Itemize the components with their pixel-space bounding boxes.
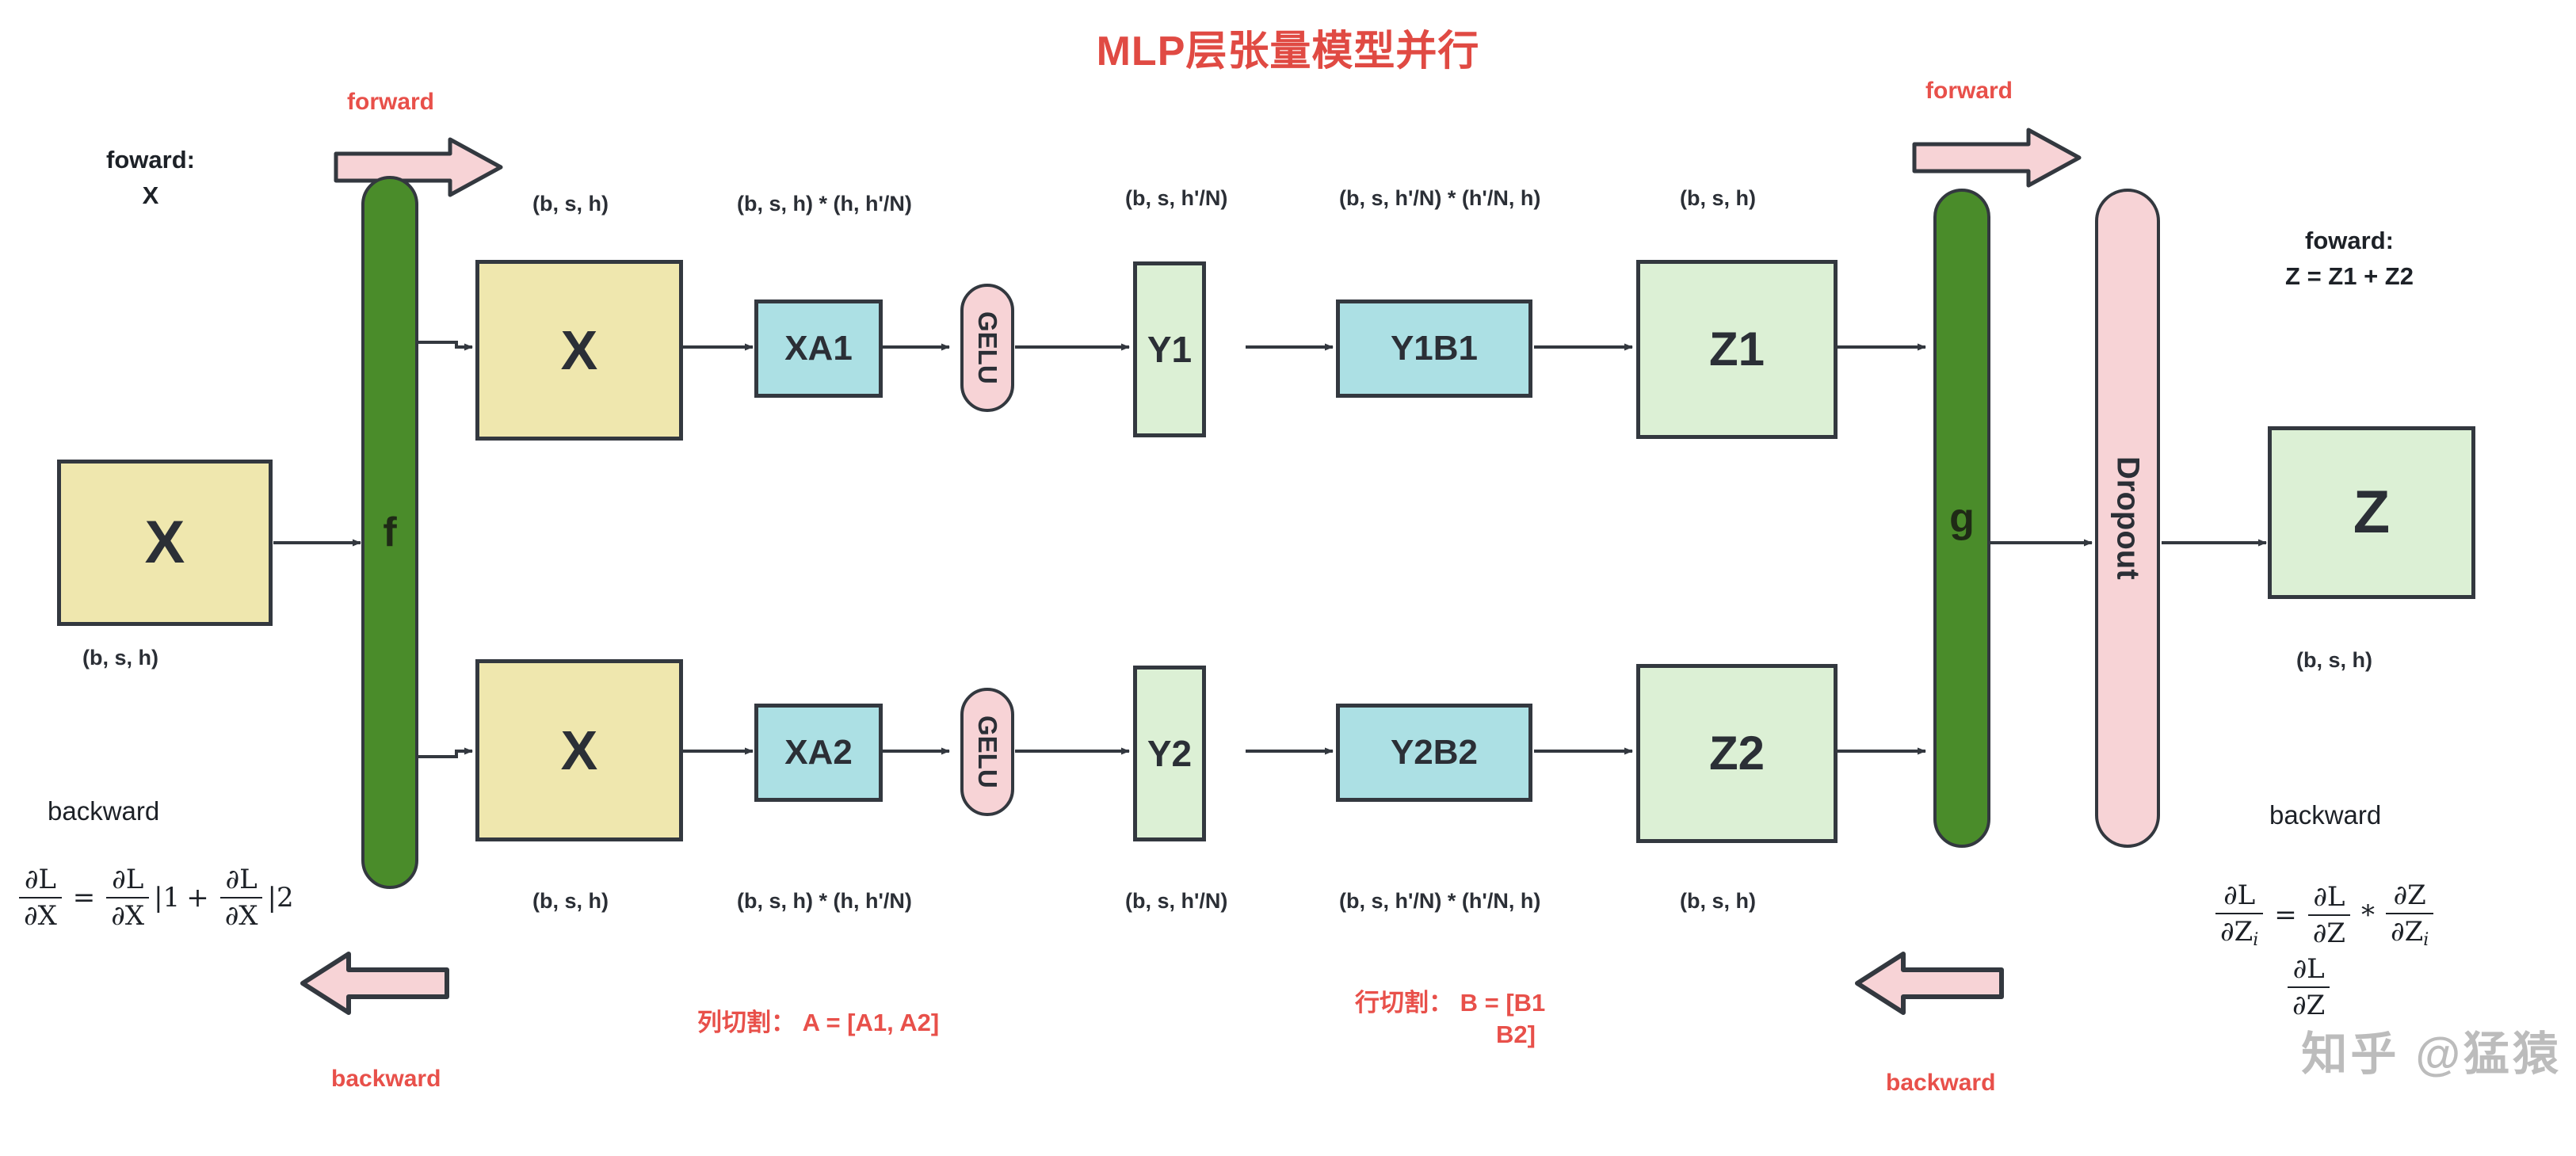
right-backward-word: backward <box>2269 796 2381 834</box>
left-forward-note: foward: X <box>79 143 222 214</box>
shape-label-top-3: (b, s, h'/N) * (h'/N, h) <box>1339 186 1540 211</box>
formula-t1-den: ∂X <box>106 897 149 932</box>
node-output-z-shape: (b, s, h) <box>2296 648 2372 673</box>
rformula-t2-den: ∂Zi <box>2386 913 2433 950</box>
branch-1-node-gelu[interactable]: GELU <box>960 284 1014 412</box>
forward-block-arrow-right <box>1911 127 2082 189</box>
branch-1-node-yb[interactable]: Y1B1 <box>1336 299 1532 398</box>
right-forward-note-line2: Z = Z1 + Z2 <box>2219 259 2480 295</box>
formula-t2-suffix: |2 <box>267 882 293 914</box>
left-forward-label: forward <box>347 89 434 116</box>
branch-1-node-z[interactable]: Z1 <box>1636 260 1838 439</box>
shape-label-top-4: (b, s, h) <box>1680 186 1756 211</box>
forward-block-arrow-left <box>333 136 504 198</box>
row-split-note-line2: B2] <box>1496 1021 1536 1049</box>
right-backward-formula: ∂L ∂Zi = ∂L ∂Z * ∂Z ∂Zi ∂L ∂Z <box>2211 879 2438 1021</box>
branch-1-node-xa[interactable]: XA1 <box>754 299 883 398</box>
left-backward-word: backward <box>48 792 159 830</box>
right-formula-line1: ∂L ∂Zi = ∂L ∂Z * ∂Z ∂Zi <box>2211 879 2438 950</box>
backward-block-arrow-left <box>300 951 450 1016</box>
node-f-gate[interactable]: f <box>361 176 418 889</box>
rformula-lhs-num: ∂L <box>2219 879 2260 913</box>
formula-term-2: ∂L ∂X <box>220 864 263 932</box>
row-split-note-line1: 行切割： B = [B1 <box>1355 982 1545 1018</box>
node-output-z-label: Z <box>2353 483 2390 543</box>
branch-2-node-yb-label: Y2B2 <box>1391 735 1478 770</box>
page-title: MLP层张量模型并行 <box>0 17 2576 77</box>
left-backward-formula: ∂L ∂X = ∂L ∂X |1 + ∂L ∂X |2 <box>14 864 294 932</box>
node-output-z[interactable]: Z <box>2268 426 2475 599</box>
branch-2-node-xa-label: XA2 <box>784 735 853 770</box>
node-g-gate[interactable]: g <box>1933 189 1990 848</box>
right-forward-note: foward: Z = Z1 + Z2 <box>2219 223 2480 295</box>
formula-lhs-den: ∂X <box>19 897 62 932</box>
formula-equals: = <box>73 882 96 914</box>
branch-2-node-gelu-label: GELU <box>972 715 1002 788</box>
node-dropout-label: Dropout <box>2110 456 2146 580</box>
watermark: 知乎 @猛猿 <box>2301 1017 2562 1083</box>
branch-1-node-gelu-label: GELU <box>972 311 1002 384</box>
shape-label-bottom-3: (b, s, h'/N) * (h'/N, h) <box>1339 889 1540 914</box>
shape-label-bottom-2: (b, s, h'/N) <box>1125 889 1227 914</box>
node-input-x[interactable]: X <box>57 460 273 626</box>
node-f-gate-label: f <box>383 509 396 556</box>
formula-t2-den: ∂X <box>220 897 263 932</box>
node-input-x-shape: (b, s, h) <box>82 646 158 670</box>
branch-1-node-z-label: Z1 <box>1709 326 1765 373</box>
branch-2-node-y[interactable]: Y2 <box>1133 666 1206 841</box>
node-g-gate-label: g <box>1949 494 1975 542</box>
branch-2-node-x[interactable]: X <box>475 659 683 841</box>
branch-2-node-x-label: X <box>561 723 598 778</box>
rformula-line2-term: ∂L ∂Z <box>2288 953 2330 1021</box>
branch-1-node-x-label: X <box>561 322 598 378</box>
rformula-term-1: ∂L ∂Z <box>2308 881 2350 949</box>
branch-1-node-y-label: Y1 <box>1147 331 1192 368</box>
branch-2-node-z-label: Z2 <box>1709 730 1765 777</box>
rformula-t1-num: ∂L <box>2308 881 2349 914</box>
branch-1-node-xa-label: XA1 <box>784 331 853 366</box>
node-dropout[interactable]: Dropout <box>2095 189 2160 848</box>
rformula-term-2: ∂Z ∂Zi <box>2386 879 2433 950</box>
right-forward-note-line1: foward: <box>2219 223 2480 259</box>
rformula-lhs-den: ∂Zi <box>2215 913 2263 950</box>
branch-2-node-z[interactable]: Z2 <box>1636 664 1838 843</box>
shape-label-top-1: (b, s, h) * (h, h'/N) <box>737 192 912 216</box>
node-input-x-label: X <box>145 513 185 573</box>
formula-lhs-num: ∂L <box>20 864 61 897</box>
branch-2-node-gelu[interactable]: GELU <box>960 688 1014 816</box>
shape-label-bottom-0: (b, s, h) <box>532 889 609 914</box>
formula-t1-num: ∂L <box>107 864 148 897</box>
left-forward-note-line2: X <box>79 178 222 214</box>
formula-t2-num: ∂L <box>221 864 262 897</box>
backward-block-arrow-right <box>1854 951 2005 1016</box>
right-formula-line2: ∂L ∂Z <box>2283 953 2334 1021</box>
left-backward-arrow-label: backward <box>331 1066 441 1093</box>
rformula-equals: = <box>2274 899 2297 931</box>
branch-1-node-yb-label: Y1B1 <box>1391 331 1478 366</box>
right-forward-label: forward <box>1925 78 2013 105</box>
left-forward-note-line1: foward: <box>79 143 222 178</box>
formula-term-1: ∂L ∂X <box>106 864 149 932</box>
formula-plus: + <box>186 882 209 914</box>
column-split-note: 列切割： A = [A1, A2] <box>697 1002 939 1038</box>
formula-term-lhs: ∂L ∂X <box>19 864 62 932</box>
branch-1-node-y[interactable]: Y1 <box>1133 261 1206 437</box>
branch-2-node-yb[interactable]: Y2B2 <box>1336 704 1532 802</box>
right-backward-arrow-label: backward <box>1886 1070 1995 1097</box>
rformula-line2-num: ∂L <box>2288 953 2330 986</box>
shape-label-top-0: (b, s, h) <box>532 192 609 216</box>
shape-label-bottom-4: (b, s, h) <box>1680 889 1756 914</box>
branch-1-node-x[interactable]: X <box>475 260 683 441</box>
rformula-op: * <box>2361 899 2375 931</box>
formula-t1-suffix: |1 <box>154 882 180 914</box>
shape-label-top-2: (b, s, h'/N) <box>1125 186 1227 211</box>
branch-2-node-y-label: Y2 <box>1147 735 1192 772</box>
rformula-t1-den: ∂Z <box>2308 914 2350 949</box>
branch-2-node-xa[interactable]: XA2 <box>754 704 883 802</box>
rformula-t2-num: ∂Z <box>2389 879 2431 913</box>
shape-label-bottom-1: (b, s, h) * (h, h'/N) <box>737 889 912 914</box>
rformula-term-lhs: ∂L ∂Zi <box>2215 879 2263 950</box>
